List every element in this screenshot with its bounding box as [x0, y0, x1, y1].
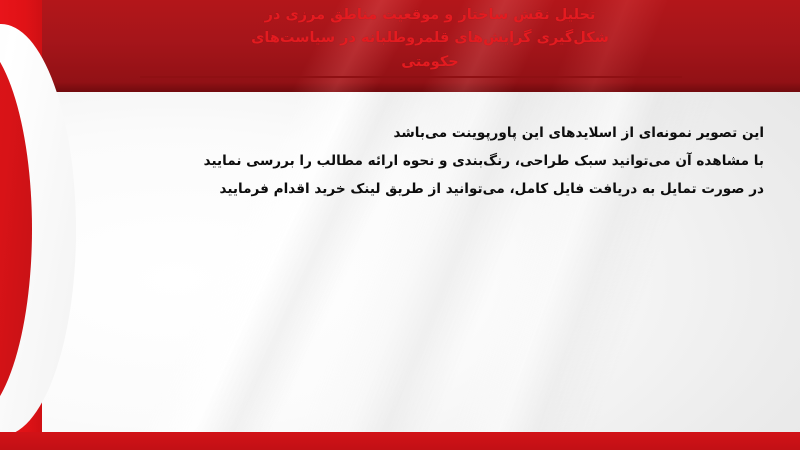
title-underline-rule [140, 76, 682, 78]
title-line-3: حکومتی [120, 51, 740, 74]
body-line-2: با مشاهده آن می‌توانید سبک طراحی، رنگ‌بن… [124, 148, 764, 176]
body-line-1: این تصویر نمونه‌ای از اسلایدهای این پاور… [124, 120, 764, 148]
title-line-1: تحلیل نقش ساختار و موقعیت مناطق مرزی در [120, 4, 740, 27]
body-line-3: در صورت تمایل به دریافت فایل کامل، می‌تو… [124, 176, 764, 204]
slide-title: تحلیل نقش ساختار و موقعیت مناطق مرزی در … [120, 4, 740, 74]
title-line-2: شکل‌گیری گرایش‌های قلمروطلبانه در سیاست‌… [120, 27, 740, 50]
slide-canvas: تحلیل نقش ساختار و موقعیت مناطق مرزی در … [0, 0, 800, 450]
slide-body-text: این تصویر نمونه‌ای از اسلایدهای این پاور… [124, 120, 764, 204]
footer-red-band [0, 432, 800, 450]
